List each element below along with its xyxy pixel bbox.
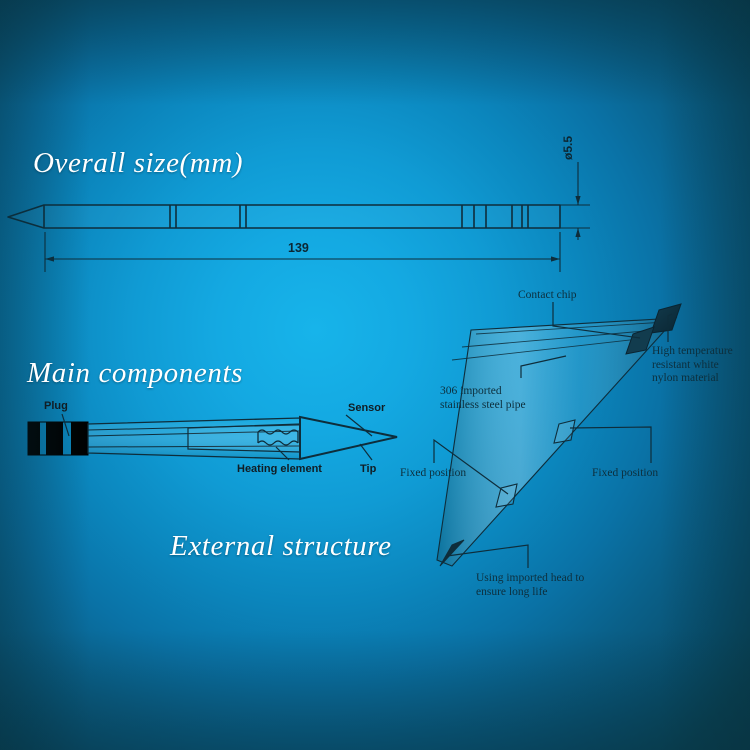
cutaway-body [88, 417, 397, 459]
label-imported-head: Using imported head to ensure long life [476, 572, 584, 599]
label-heating-element: Heating element [237, 463, 322, 477]
label-nylon-material: High temperature resistant white nylon m… [652, 345, 733, 386]
plug-connector [28, 422, 88, 455]
dimension-diameter [560, 162, 590, 240]
label-sensor: Sensor [348, 402, 385, 416]
label-stainless-steel-pipe: 306 imported stainless steel pipe [440, 385, 526, 412]
label-fixed-position-left: Fixed position [400, 467, 466, 481]
heading-main-components: Main components [27, 357, 243, 390]
diagram-canvas: Overall size(mm) Main components Externa… [0, 0, 750, 750]
tilted-pen [437, 304, 681, 566]
label-contact-chip: Contact chip [518, 289, 576, 303]
label-tip: Tip [360, 463, 376, 477]
heading-overall-size: Overall size(mm) [33, 147, 243, 180]
overall-size-profile [8, 205, 560, 228]
label-fixed-position-right: Fixed position [592, 467, 658, 481]
dimension-label-length: 139 [288, 241, 309, 255]
label-plug: Plug [44, 400, 68, 414]
heading-external-structure: External structure [170, 530, 392, 563]
dimension-label-diameter: ø5.5 [561, 136, 575, 160]
